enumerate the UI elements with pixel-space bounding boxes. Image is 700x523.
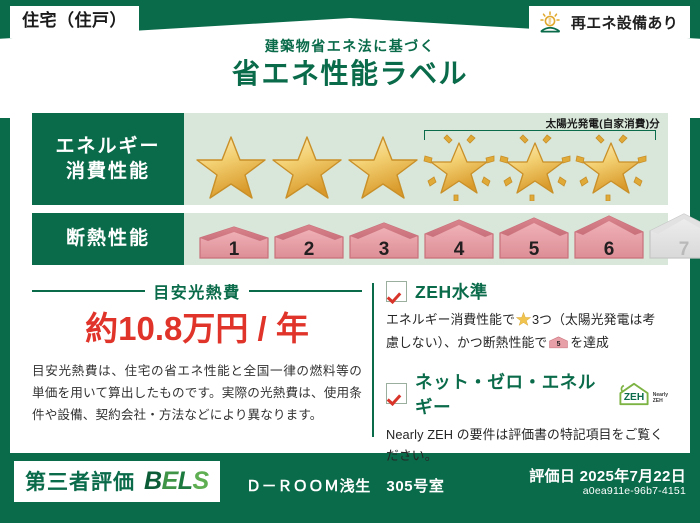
label-footer: 第三者評価 BELS Ｄ－ＲＯＯＭ浅生 305号室 評価日 2025年7月22日… (0, 453, 700, 523)
insulation-house-5: 5 (498, 217, 570, 265)
utility-cost-title: 目安光熱費 (153, 279, 241, 303)
solar-sun-icon (538, 11, 564, 33)
utility-cost-block: 目安光熱費 約10.8万円 / 年 目安光熱費は、住宅の省エネ性能と全国一律の燃… (32, 277, 362, 443)
utility-cost-heading: 目安光熱費 (32, 279, 362, 303)
zeh-house-logo-icon: ZEH (617, 381, 651, 407)
bels-jp-text: 第三者評価 (25, 466, 135, 496)
energy-rating-area: 太陽光発電(自家消費)分 (184, 113, 668, 205)
energy-performance-label: 住宅（住戸） 再エネ設備あり 建築物省エネ法に基づく 省エネ性能ラベル エネルギ… (0, 0, 700, 523)
net-zero-checkbox[interactable] (386, 383, 407, 404)
zeh-standard-title: ZEH水準 (415, 279, 488, 304)
insulation-level-number: 5 (498, 239, 570, 261)
bels-letter-l: L (178, 467, 193, 495)
heading-rule-left (32, 290, 145, 292)
insulation-performance-row: 断熱性能 1 (32, 213, 668, 265)
insulation-house-2: 2 (273, 224, 345, 265)
inline-star-icon (516, 311, 531, 332)
insulation-house-4: 4 (423, 219, 495, 265)
zeh-logo-sub: Nearly ZEH (653, 393, 668, 407)
zeh-standard-heading: ZEH水準 (386, 279, 668, 304)
insulation-house-1: 1 (198, 226, 270, 265)
insulation-rating-area: 1 2 3 (184, 213, 668, 265)
insulation-house-scale: 1 2 3 (198, 213, 700, 265)
zeh-text-part1: エネルギー消費性能で (386, 312, 515, 327)
energy-label-line2: 消費性能 (66, 159, 150, 184)
zeh-logo-sub-line2: ZEH (653, 398, 663, 404)
insulation-house-7: 7 (648, 213, 700, 265)
energy-performance-label: エネルギー 消費性能 (32, 113, 184, 205)
zeh-standard-checkbox[interactable] (386, 281, 407, 302)
renewable-equipment-badge: 再エネ設備あり (529, 6, 690, 38)
insulation-level-number: 6 (573, 239, 645, 261)
vertical-divider (372, 283, 374, 437)
insulation-house-6: 6 (573, 215, 645, 265)
label-title: 建築物省エネ法に基づく 省エネ性能ラベル (0, 38, 700, 91)
heading-rule-right (249, 290, 362, 292)
energy-performance-row: エネルギー 消費性能 太陽光発電(自家消費)分 (32, 113, 668, 205)
insulation-level-number: 3 (348, 239, 420, 261)
insulation-label-text: 断熱性能 (66, 226, 150, 251)
utility-cost-value: 約10.8万円 / 年 (32, 311, 362, 347)
utility-cost-note: 目安光熱費は、住宅の省エネ性能と全国一律の燃料等の単価を用いて算出したものです。… (32, 361, 362, 426)
star-solid-2 (270, 129, 344, 201)
bels-letters: BELS (144, 467, 209, 496)
evaluation-date: 評価日 2025年7月22日 (529, 465, 686, 486)
bels-letter-b: B (144, 467, 162, 495)
star-rating (194, 129, 648, 201)
zeh-standard-text: エネルギー消費性能で3つ（太陽光発電は考慮しない）、かつ断熱性能で5を達成 (386, 309, 668, 357)
zeh-logo: ZEH Nearly ZEH (617, 381, 668, 407)
renewable-badge-label: 再エネ設備あり (571, 12, 678, 33)
zeh-star-count: 3つ（太陽光発電 (532, 312, 630, 327)
svg-text:5: 5 (557, 342, 561, 349)
main-panel: エネルギー 消費性能 太陽光発電(自家消費)分 (10, 101, 690, 453)
star-solid-3 (346, 129, 420, 201)
property-name: Ｄ－ＲＯＯＭ浅生 305号室 (246, 475, 444, 496)
bels-logo: 第三者評価 BELS (14, 461, 220, 502)
insulation-level-number: 4 (423, 239, 495, 261)
star-solar-5 (498, 129, 572, 201)
net-zero-heading: ネット・ゼロ・エネルギー ZEH Nearly ZEH (386, 369, 668, 419)
title-main: 省エネ性能ラベル (0, 56, 700, 91)
star-solar-4 (422, 129, 496, 201)
category-tag: 住宅（住戸） (10, 6, 139, 38)
inline-house-badge: 5 (549, 335, 568, 356)
bels-letter-s: S (193, 467, 209, 495)
insulation-performance-label: 断熱性能 (32, 213, 184, 265)
star-solid-1 (194, 129, 268, 201)
bels-letter-e: E (162, 467, 178, 495)
evaluation-id: a0ea911e-96b7-4151 (583, 485, 686, 497)
insulation-house-3: 3 (348, 222, 420, 265)
net-zero-title: ネット・ゼロ・エネルギー (415, 369, 604, 419)
zeh-info-block: ZEH水準 エネルギー消費性能で3つ（太陽光発電は考慮しない）、かつ断熱性能で5… (386, 277, 668, 443)
zeh-standard-block: ZEH水準 エネルギー消費性能で3つ（太陽光発電は考慮しない）、かつ断熱性能で5… (386, 279, 668, 357)
svg-text:ZEH: ZEH (624, 392, 644, 403)
title-subtitle: 建築物省エネ法に基づく (0, 38, 700, 55)
lower-info-section: 目安光熱費 約10.8万円 / 年 目安光熱費は、住宅の省エネ性能と全国一律の燃… (32, 277, 668, 443)
insulation-level-number: 2 (273, 239, 345, 261)
star-solar-6 (574, 129, 648, 201)
zeh-text-part3: を達成 (570, 335, 609, 350)
energy-label-line1: エネルギー (55, 134, 160, 159)
insulation-level-number: 1 (198, 239, 270, 261)
insulation-level-number: 7 (648, 239, 700, 261)
